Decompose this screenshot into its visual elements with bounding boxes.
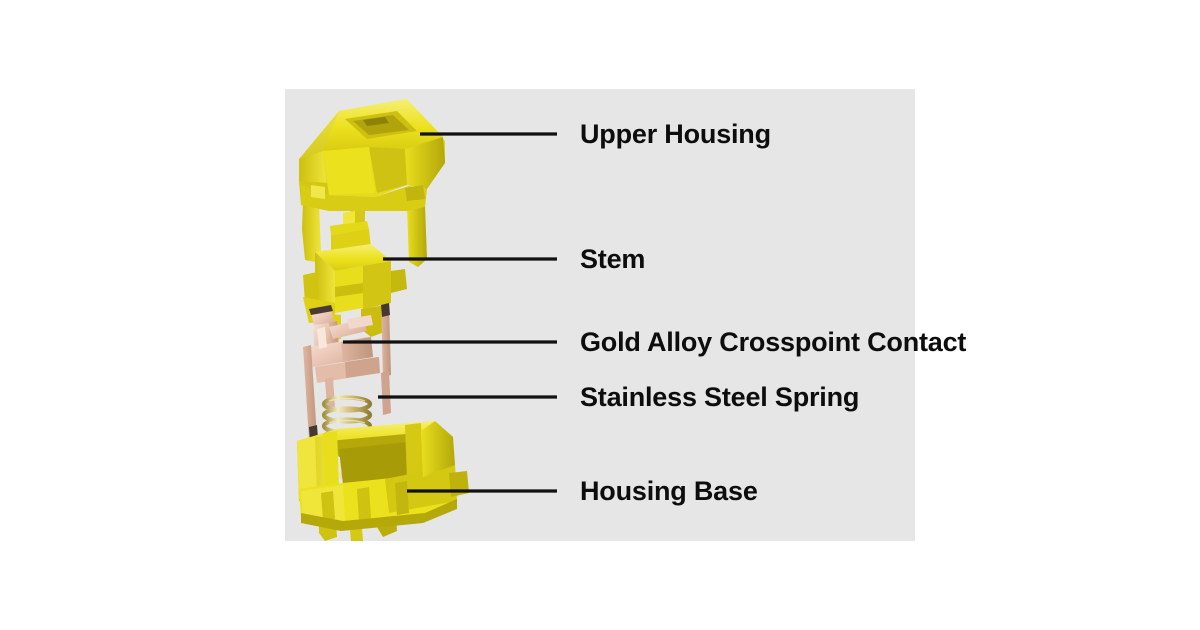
part-upper-housing-art xyxy=(299,99,445,267)
exploded-switch-illustration xyxy=(285,89,915,541)
part-housing-base-art xyxy=(297,421,469,541)
label-housing-base: Housing Base xyxy=(580,478,758,505)
label-gold-alloy-crosspoint-contact: Gold Alloy Crosspoint Contact xyxy=(580,329,966,356)
diagram-panel xyxy=(285,89,915,541)
label-upper-housing: Upper Housing xyxy=(580,121,771,148)
figure-canvas: Upper Housing Stem Gold Alloy Crosspoint… xyxy=(0,0,1200,630)
label-stainless-steel-spring: Stainless Steel Spring xyxy=(580,384,859,411)
label-stem: Stem xyxy=(580,246,645,273)
